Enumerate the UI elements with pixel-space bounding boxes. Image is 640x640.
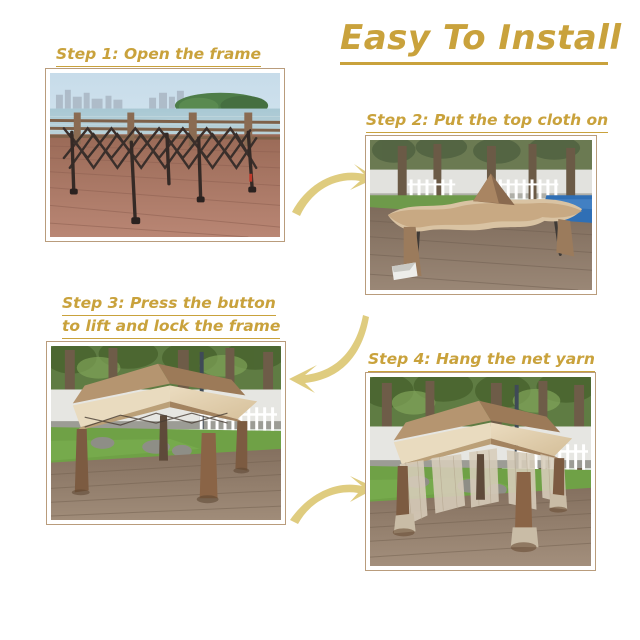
step-4-photo xyxy=(370,377,591,566)
step-3-caption-line-1: Step 3: Press the button xyxy=(62,293,276,316)
step-1-photo xyxy=(50,73,280,237)
step-1-photo-frame xyxy=(45,68,285,242)
step-2-caption-line-1: Step 2: Put the top cloth on xyxy=(366,110,608,133)
arrow-step3-to-step4 xyxy=(288,468,376,530)
step-1-caption-line-1: Step 1: Open the frame xyxy=(56,44,261,67)
step-2-photo xyxy=(370,140,592,290)
page-title: Easy To Install xyxy=(340,18,620,58)
step-3-caption: Step 3: Press the button to lift and loc… xyxy=(62,293,280,339)
infographic-page: Easy To Install Step 1: Open the frame xyxy=(0,0,640,640)
step-3-photo-frame xyxy=(46,341,286,525)
step-4-caption: Step 4: Hang the net yarn xyxy=(368,349,595,372)
arrow-step2-to-step3 xyxy=(283,313,369,393)
arrow-step1-to-step2 xyxy=(290,158,376,220)
page-title-underline xyxy=(340,62,608,65)
step-4-caption-line-1: Step 4: Hang the net yarn xyxy=(368,349,595,372)
step-3-photo xyxy=(51,346,281,520)
step-1-caption: Step 1: Open the frame xyxy=(56,44,261,67)
step-2-photo-frame xyxy=(365,135,597,295)
step-3-caption-line-2: to lift and lock the frame xyxy=(62,316,280,339)
step-4-photo-frame xyxy=(365,372,596,571)
step-2-caption: Step 2: Put the top cloth on xyxy=(366,110,608,133)
